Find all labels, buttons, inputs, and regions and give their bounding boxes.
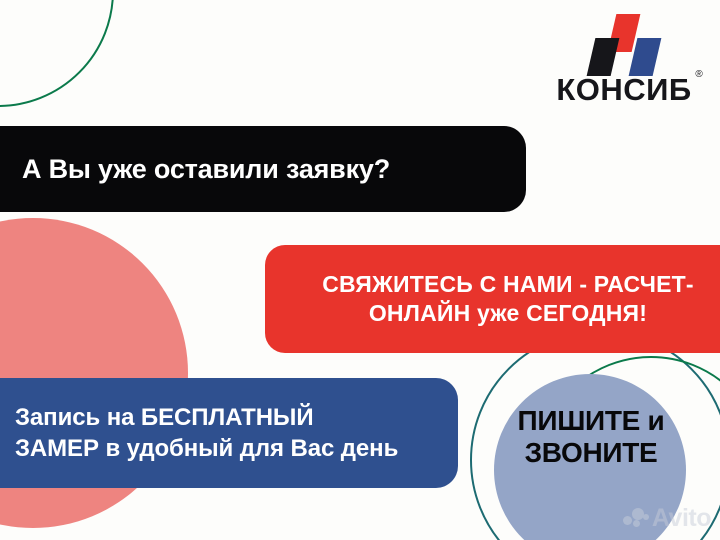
booking-banner-line-1: Запись на БЕСПЛАТНЫЙ: [15, 402, 438, 433]
booking-banner-line-2: ЗАМЕР в удобный для Вас день: [15, 433, 438, 464]
brand-logo: КОНСИБ ®: [544, 14, 704, 105]
contact-banner-line-1: СВЯЖИТЕСЬ С НАМИ - РАСЧЕТ-: [287, 270, 720, 299]
logo-parallelogram-black-icon: [587, 38, 620, 76]
avito-watermark: Avito: [623, 504, 711, 533]
avito-dot-1: [623, 516, 632, 525]
registered-trademark-symbol: ®: [695, 70, 702, 80]
logo-wordmark-wrapper: КОНСИБ ®: [556, 74, 691, 105]
decorative-green-circle-outline-top-left: [0, 0, 114, 107]
call-to-action-text: ПИШИТЕ и ЗВОНИТЕ: [489, 405, 693, 469]
avito-watermark-label: Avito: [652, 504, 711, 533]
logo-wordmark: КОНСИБ: [556, 72, 691, 107]
call-to-action-line-2: ЗВОНИТЕ: [489, 437, 693, 469]
logo-mark-icon: [585, 14, 663, 72]
contact-banner-line-2: ОНЛАЙН уже СЕГОДНЯ!: [287, 299, 720, 328]
avito-dot-4: [643, 514, 649, 520]
avito-dots-icon: [623, 507, 649, 531]
call-to-action-line-1: ПИШИТЕ и: [489, 405, 693, 437]
promo-poster: КОНСИБ ® А Вы уже оставили заявку? СВЯЖИ…: [0, 0, 720, 540]
avito-dot-2: [633, 520, 640, 527]
question-banner: А Вы уже оставили заявку?: [0, 126, 526, 212]
contact-banner: СВЯЖИТЕСЬ С НАМИ - РАСЧЕТ- ОНЛАЙН уже СЕ…: [265, 245, 720, 353]
booking-banner: Запись на БЕСПЛАТНЫЙ ЗАМЕР в удобный для…: [0, 378, 458, 488]
question-banner-line-1: А Вы уже оставили заявку?: [22, 154, 496, 185]
